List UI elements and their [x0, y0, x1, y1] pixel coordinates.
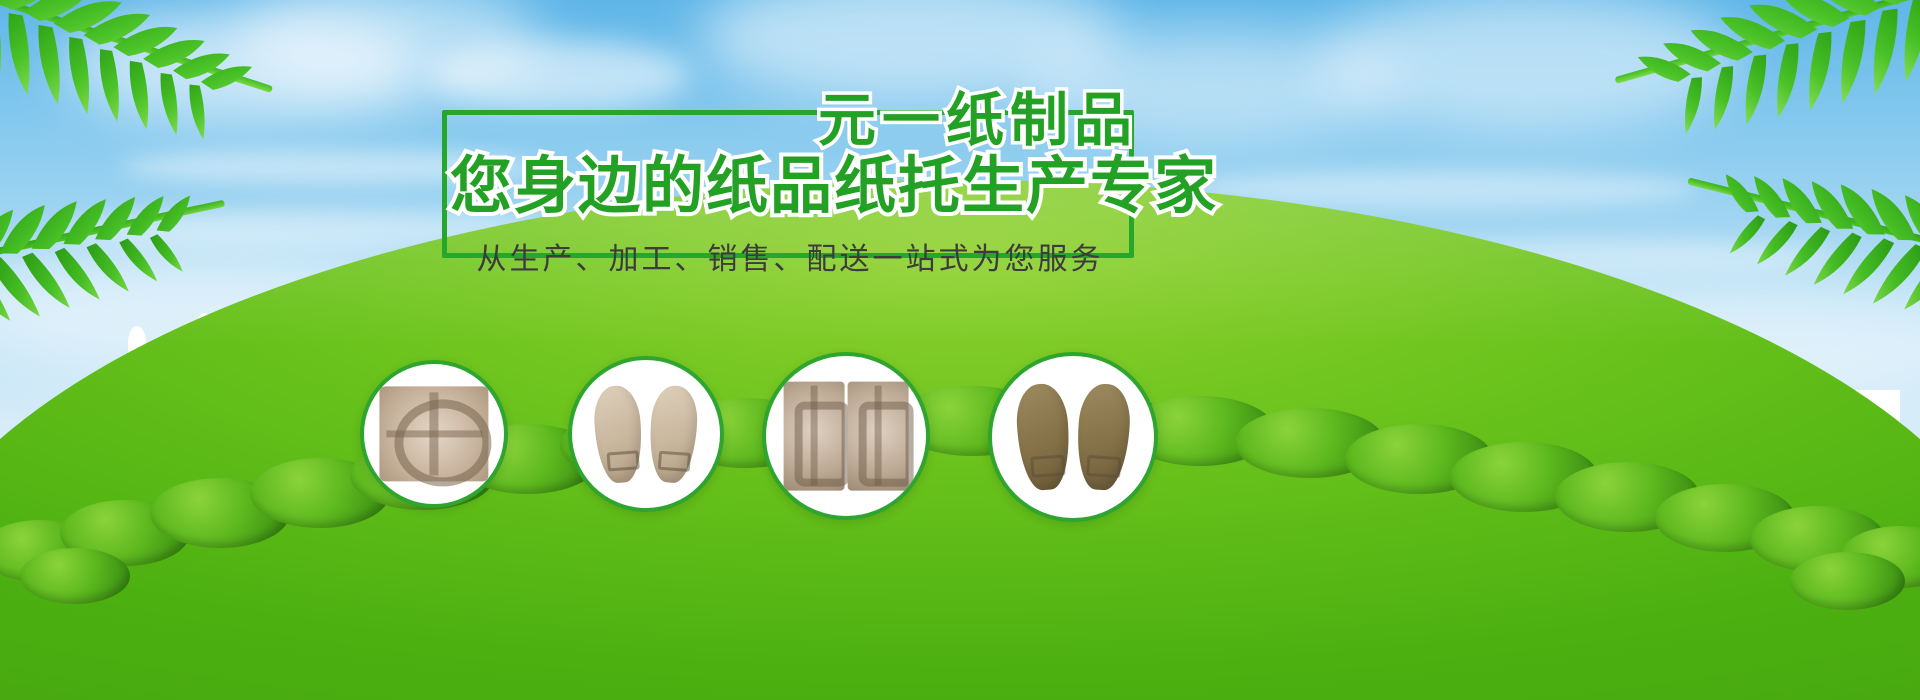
paper-pulp-square-tray — [379, 386, 488, 481]
product-circle-3[interactable] — [762, 352, 930, 520]
product-circle-1[interactable] — [360, 360, 508, 508]
subtitle-text: 从生产、加工、销售、配送一站式为您服务 — [440, 238, 1140, 282]
product-circle-2[interactable] — [568, 356, 724, 512]
title-line-1: 元一纸制品 — [638, 88, 1142, 154]
title-line-2: 您身边的纸品纸托生产专家 — [450, 150, 1134, 224]
paper-pulp-double-tray — [784, 382, 909, 491]
product-circle-4[interactable] — [988, 352, 1158, 522]
paper-pulp-insole-pair-dark — [1010, 382, 1136, 492]
paper-pulp-insole-pair-light — [588, 384, 703, 485]
promo-banner: 元一纸制品 您身边的纸品纸托生产专家 从生产、加工、销售、配送一站式为您服务 — [0, 0, 1920, 700]
